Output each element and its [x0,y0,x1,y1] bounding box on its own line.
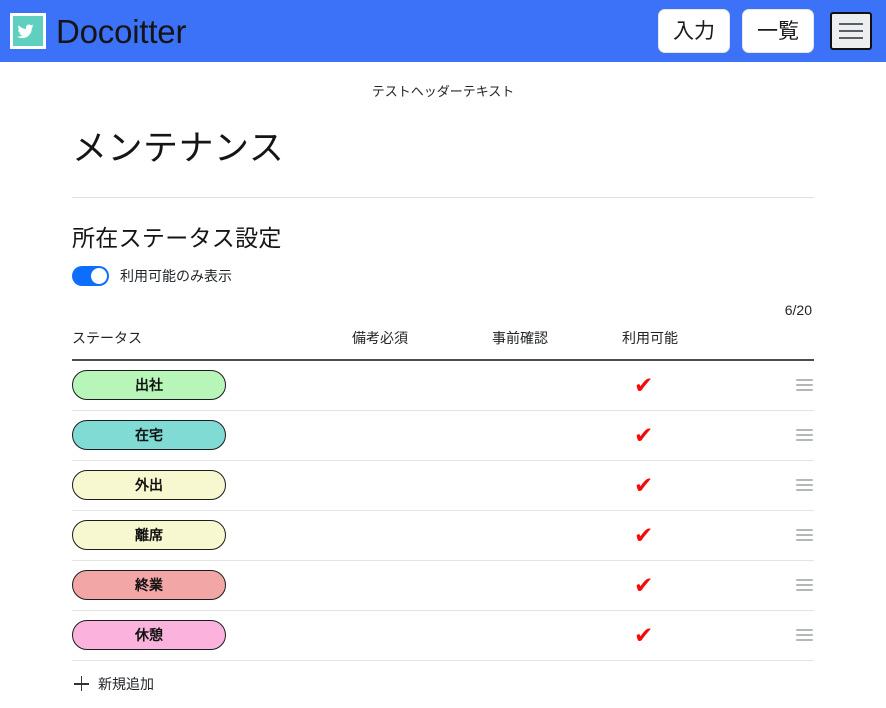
app-header-actions: 入力 一覧 [658,9,872,53]
add-new-label: 新規追加 [98,674,154,694]
brand-title: Docoitter [56,15,186,48]
cell-remarks [352,460,492,510]
drag-handle-icon[interactable] [796,379,813,391]
drag-handle-line [796,589,813,591]
check-icon: ✔ [634,474,656,497]
drag-handle-line [796,534,813,536]
cell-confirm [492,410,622,460]
check-icon: ✔ [634,524,656,547]
drag-handle-line [796,484,813,486]
status-pill[interactable]: 休憩 [72,620,226,650]
column-header-handle [762,324,814,360]
input-button[interactable]: 入力 [658,9,730,53]
status-pill[interactable]: 在宅 [72,420,226,450]
drag-handle-line [796,489,813,491]
cell-status: 終業 [72,560,352,610]
status-table-head: ステータス 備考必須 事前確認 利用可能 [72,324,814,360]
hamburger-line [839,23,863,25]
cell-available: ✔ [622,460,762,510]
cell-remarks [352,410,492,460]
drag-handle-line [796,639,813,641]
status-pill[interactable]: 終業 [72,570,226,600]
hamburger-line [839,37,863,39]
column-header-remarks: 備考必須 [352,324,492,360]
section-title: 所在ステータス設定 [72,219,814,253]
drag-handle-icon[interactable] [796,429,813,441]
status-table-foot: 新規追加 [72,660,814,708]
status-pill[interactable]: 外出 [72,470,226,500]
add-new-row[interactable]: 新規追加 [72,660,814,708]
cell-available: ✔ [622,610,762,660]
cell-remarks [352,510,492,560]
column-header-status: ステータス [72,324,352,360]
table-header-row: ステータス 備考必須 事前確認 利用可能 [72,324,814,360]
table-row: 終業✔ [72,560,814,610]
status-counter: 6/20 [72,302,814,318]
hamburger-line [839,30,863,32]
drag-handle-line [796,389,813,391]
brand: Docoitter [10,13,658,49]
cell-confirm [492,560,622,610]
drag-handle-line [796,584,813,586]
column-header-available: 利用可能 [622,324,762,360]
page-header-text: テストヘッダーテキスト [0,62,886,100]
page-title: メンテナンス [72,120,814,171]
column-header-confirm: 事前確認 [492,324,622,360]
drag-handle-line [796,629,813,631]
table-row: 出社✔ [72,360,814,410]
table-row: 在宅✔ [72,410,814,460]
cell-remarks [352,560,492,610]
available-only-toggle-row: 利用可能のみ表示 [72,266,814,286]
list-button[interactable]: 一覧 [742,9,814,53]
table-row: 離席✔ [72,510,814,560]
check-icon: ✔ [634,374,656,397]
drag-handle-line [796,634,813,636]
content-container: メンテナンス 所在ステータス設定 利用可能のみ表示 6/20 ステータス 備考必… [0,120,886,708]
app-header-bar: Docoitter 入力 一覧 [0,0,886,62]
drag-handle-line [796,439,813,441]
drag-handle-line [796,434,813,436]
cell-handle [762,410,814,460]
drag-handle-line [796,379,813,381]
check-icon: ✔ [634,574,656,597]
cell-confirm [492,610,622,660]
check-icon: ✔ [634,624,656,647]
add-new-cell: 新規追加 [72,660,814,708]
cell-status: 在宅 [72,410,352,460]
cell-remarks [352,610,492,660]
cell-handle [762,510,814,560]
plus-icon [74,676,89,691]
cell-confirm [492,360,622,410]
cell-status: 出社 [72,360,352,410]
status-pill[interactable]: 離席 [72,520,226,550]
drag-handle-icon[interactable] [796,629,813,641]
drag-handle-line [796,529,813,531]
table-row: 休憩✔ [72,610,814,660]
cell-available: ✔ [622,410,762,460]
drag-handle-line [796,539,813,541]
cell-available: ✔ [622,510,762,560]
toggle-knob [91,268,107,284]
drag-handle-line [796,384,813,386]
drag-handle-line [796,579,813,581]
drag-handle-icon[interactable] [796,529,813,541]
drag-handle-line [796,429,813,431]
bird-logo-icon [10,13,46,49]
drag-handle-line [796,479,813,481]
available-only-toggle[interactable] [72,266,109,286]
cell-confirm [492,460,622,510]
cell-handle [762,560,814,610]
add-new-button[interactable]: 新規追加 [72,674,154,694]
cell-handle [762,460,814,510]
cell-status: 外出 [72,460,352,510]
cell-handle [762,610,814,660]
status-table-body: 出社✔在宅✔外出✔離席✔終業✔休憩✔ [72,360,814,660]
check-icon: ✔ [634,424,656,447]
table-row: 外出✔ [72,460,814,510]
cell-available: ✔ [622,560,762,610]
status-table: ステータス 備考必須 事前確認 利用可能 出社✔在宅✔外出✔離席✔終業✔休憩✔ … [72,324,814,708]
drag-handle-icon[interactable] [796,579,813,591]
title-divider [72,197,814,198]
status-pill[interactable]: 出社 [72,370,226,400]
drag-handle-icon[interactable] [796,479,813,491]
cell-status: 離席 [72,510,352,560]
cell-remarks [352,360,492,410]
page-body: テストヘッダーテキスト メンテナンス 所在ステータス設定 利用可能のみ表示 6/… [0,62,886,708]
cell-confirm [492,510,622,560]
hamburger-menu-icon[interactable] [830,12,872,50]
cell-available: ✔ [622,360,762,410]
cell-handle [762,360,814,410]
cell-status: 休憩 [72,610,352,660]
available-only-toggle-label: 利用可能のみ表示 [120,266,232,286]
